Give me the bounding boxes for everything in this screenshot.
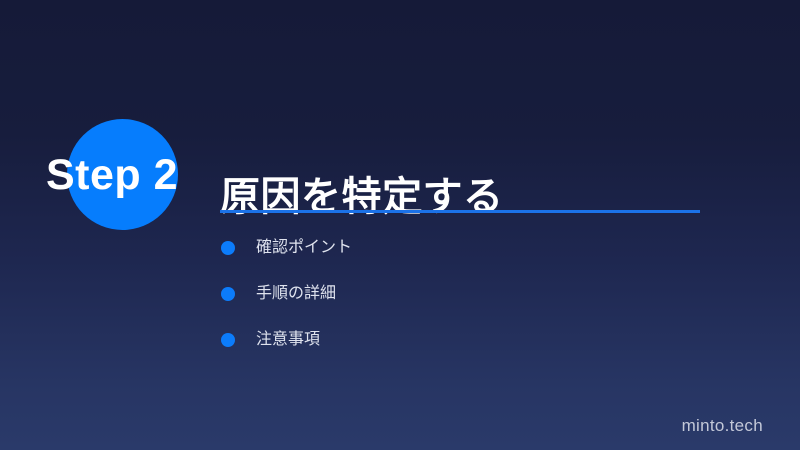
- step-badge: Step 2: [0, 110, 220, 240]
- footer-watermark: minto.tech: [682, 416, 763, 436]
- bullet-dot-icon: [221, 333, 235, 347]
- list-item: 確認ポイント: [221, 238, 681, 284]
- bullet-list: 確認ポイント 手順の詳細 注意事項: [221, 238, 681, 376]
- presentation-slide: Step 2 原因を特定する 確認ポイント 手順の詳細 注意事項 minto.t…: [0, 0, 800, 450]
- step-number-label: Step 2: [46, 154, 206, 197]
- list-item: 注意事項: [221, 330, 681, 376]
- list-item: 手順の詳細: [221, 284, 681, 330]
- title-divider: [220, 210, 700, 213]
- bullet-dot-icon: [221, 287, 235, 301]
- list-item-label: 確認ポイント: [256, 238, 352, 258]
- bullet-dot-icon: [221, 241, 235, 255]
- list-item-label: 注意事項: [256, 330, 320, 350]
- list-item-label: 手順の詳細: [256, 284, 336, 304]
